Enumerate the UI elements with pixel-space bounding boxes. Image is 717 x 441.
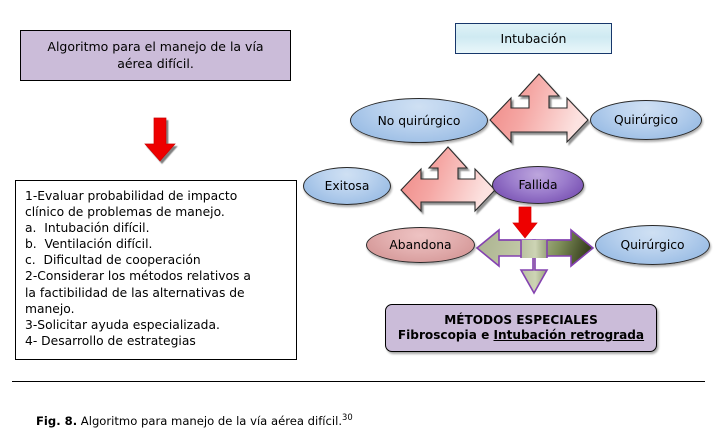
fallida-label: Fallida xyxy=(518,178,557,192)
intubacion-box: Intubación xyxy=(455,23,612,54)
exitosa-label: Exitosa xyxy=(325,179,370,193)
step-line: a. Intubación difícil. xyxy=(25,220,287,236)
ellipse-quirurgico-top: Quirúrgico xyxy=(590,100,702,140)
step-line: clínico de problemas de manejo. xyxy=(25,204,287,220)
figure-caption: Fig. 8. Algoritmo para manejo de la vía … xyxy=(36,412,676,428)
figure-label: Fig. 8. xyxy=(36,414,77,428)
metodos-subtitle: Fibroscopia e Intubación retrograda xyxy=(398,328,644,343)
figure-reference: 30 xyxy=(342,412,353,422)
quirurgico-top-label: Quirúrgico xyxy=(614,113,678,127)
three-way-arrow-up-left-right-icon-mid xyxy=(398,145,498,217)
step-line: manejo. xyxy=(25,301,287,317)
ellipse-exitosa: Exitosa xyxy=(303,167,391,205)
ellipse-fallida: Fallida xyxy=(492,166,584,204)
no-quirurgico-label: No quirúrgico xyxy=(378,114,461,128)
step-line: 4- Desarrollo de estrategias xyxy=(25,333,287,349)
step-line: c. Dificultad de cooperación xyxy=(25,252,287,268)
three-way-arrow-left-right-down-icon xyxy=(475,218,595,298)
ellipse-quirurgico-bottom: Quirúrgico xyxy=(595,225,710,265)
quirurgico-bottom-label: Quirúrgico xyxy=(620,238,684,252)
metodos-subtitle-prefix: Fibroscopia e xyxy=(398,328,494,342)
ellipse-abandona: Abandona xyxy=(366,227,475,263)
caption-divider xyxy=(12,381,705,382)
metodos-title: MÉTODOS ESPECIALES xyxy=(444,313,598,328)
three-way-arrow-up-left-right-icon xyxy=(487,72,591,152)
arrow-down-icon xyxy=(143,118,177,162)
step-line: 2-Considerar los métodos relativos a xyxy=(25,268,287,284)
ellipse-no-quirurgico: No quirúrgico xyxy=(350,98,488,143)
title-box: Algoritmo para el manejo de la vía aérea… xyxy=(20,30,291,81)
step-line: la factibilidad de las alternativas de xyxy=(25,285,287,301)
metodos-especiales-box: MÉTODOS ESPECIALES Fibroscopia e Intubac… xyxy=(385,304,657,352)
steps-box: 1-Evaluar probabilidad de impacto clínic… xyxy=(15,180,297,360)
metodos-subtitle-underlined: Intubación retrograda xyxy=(494,328,645,342)
title-box-text: Algoritmo para el manejo de la vía aérea… xyxy=(31,39,280,73)
step-line: 3-Solicitar ayuda especializada. xyxy=(25,317,287,333)
intubacion-label: Intubación xyxy=(501,31,567,46)
abandona-label: Abandona xyxy=(389,238,451,252)
figure-caption-text: Algoritmo para manejo de la vía aérea di… xyxy=(81,414,342,428)
step-line: b. Ventilación difícil. xyxy=(25,236,287,252)
step-line: 1-Evaluar probabilidad de impacto xyxy=(25,188,287,204)
figure-canvas: Algoritmo para el manejo de la vía aérea… xyxy=(0,0,717,441)
